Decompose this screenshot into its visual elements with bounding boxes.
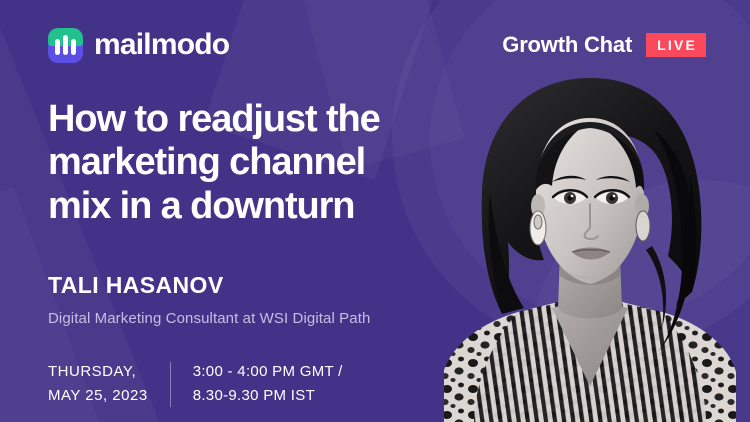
- mailmodo-logo-icon: [48, 28, 83, 63]
- logo-icon-bar-right: [71, 39, 76, 55]
- speaker-role: Digital Marketing Consultant at WSI Digi…: [48, 310, 468, 327]
- schedule-date-line-1: THURSDAY,: [48, 360, 148, 384]
- banner-content: How to readjust the marketing channel mi…: [48, 98, 468, 409]
- webinar-promo-banner: mailmodo Growth Chat LIVE How to readjus…: [0, 0, 750, 422]
- live-badge: LIVE: [646, 33, 706, 57]
- brand-name: mailmodo: [94, 30, 229, 60]
- headline-line-2: marketing channel: [48, 141, 468, 184]
- schedule-time: 3:00 - 4:00 PM GMT / 8.30-9.30 PM IST: [171, 360, 343, 409]
- schedule-block: THURSDAY, MAY 25, 2023 3:00 - 4:00 PM GM…: [48, 360, 468, 409]
- logo-icon-bar-center: [63, 35, 68, 55]
- series-title: Growth Chat: [502, 32, 632, 58]
- speaker-portrait: [440, 70, 740, 422]
- series-branding: Growth Chat LIVE: [502, 32, 706, 58]
- brand-logo[interactable]: mailmodo: [48, 28, 229, 63]
- headline-line-3: mix in a downturn: [48, 185, 468, 228]
- speaker-name: TALI HASANOV: [48, 272, 468, 299]
- schedule-time-line-2: 8.30-9.30 PM IST: [193, 384, 343, 408]
- banner-header: mailmodo Growth Chat LIVE: [0, 0, 750, 90]
- logo-icon-bar-left: [55, 39, 60, 55]
- schedule-date-line-2: MAY 25, 2023: [48, 384, 148, 408]
- headline-line-1: How to readjust the: [48, 98, 468, 141]
- headline: How to readjust the marketing channel mi…: [48, 98, 468, 228]
- schedule-time-line-1: 3:00 - 4:00 PM GMT /: [193, 360, 343, 384]
- schedule-date: THURSDAY, MAY 25, 2023: [48, 360, 170, 409]
